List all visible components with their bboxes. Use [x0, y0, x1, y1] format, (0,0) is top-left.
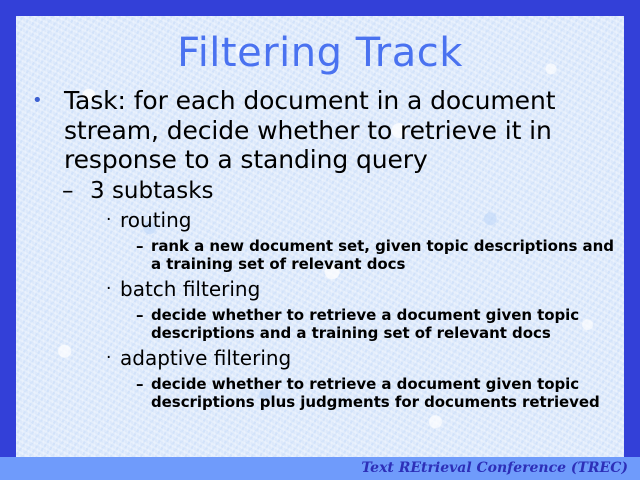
- slide-title: Filtering Track: [16, 30, 624, 76]
- outline-text: 3 subtasks: [90, 177, 624, 205]
- outline-text: routing: [120, 208, 624, 233]
- outline-item-level3-routing: · routing: [104, 208, 624, 233]
- bullet-dash-icon: –: [136, 306, 143, 325]
- bullet-dash-icon: –: [136, 375, 143, 394]
- bullet-middot-icon: ·: [106, 208, 111, 233]
- outline-item-level4-routing-detail: – rank a new document set, given topic d…: [136, 237, 624, 274]
- outline-item-level1: • Task: for each document in a document …: [30, 86, 624, 175]
- slide-outline: • Task: for each document in a document …: [16, 86, 624, 412]
- outline-item-level2: – 3 subtasks: [60, 177, 624, 205]
- outline-item-level3-adaptive-filtering: · adaptive filtering: [104, 346, 624, 371]
- slide: Filtering Track • Task: for each documen…: [0, 0, 640, 480]
- outline-text: rank a new document set, given topic des…: [151, 237, 624, 274]
- footer-conference-label: Text REtrieval Conference (TREC): [361, 459, 628, 478]
- bullet-middot-icon: ·: [106, 277, 111, 302]
- outline-item-level4-adaptive-detail: – decide whether to retrieve a document …: [136, 375, 624, 412]
- outline-text: adaptive filtering: [120, 346, 624, 371]
- outline-item-level3-batch-filtering: · batch filtering: [104, 277, 624, 302]
- outline-text: batch filtering: [120, 277, 624, 302]
- outline-text: decide whether to retrieve a document gi…: [151, 306, 624, 343]
- bullet-dot-icon: •: [32, 86, 43, 116]
- bullet-middot-icon: ·: [106, 346, 111, 371]
- outline-text: Task: for each document in a document st…: [64, 86, 624, 175]
- bullet-dash-icon: –: [62, 177, 74, 205]
- bullet-dash-icon: –: [136, 237, 143, 256]
- outline-item-level4-batch-detail: – decide whether to retrieve a document …: [136, 306, 624, 343]
- outline-text: decide whether to retrieve a document gi…: [151, 375, 624, 412]
